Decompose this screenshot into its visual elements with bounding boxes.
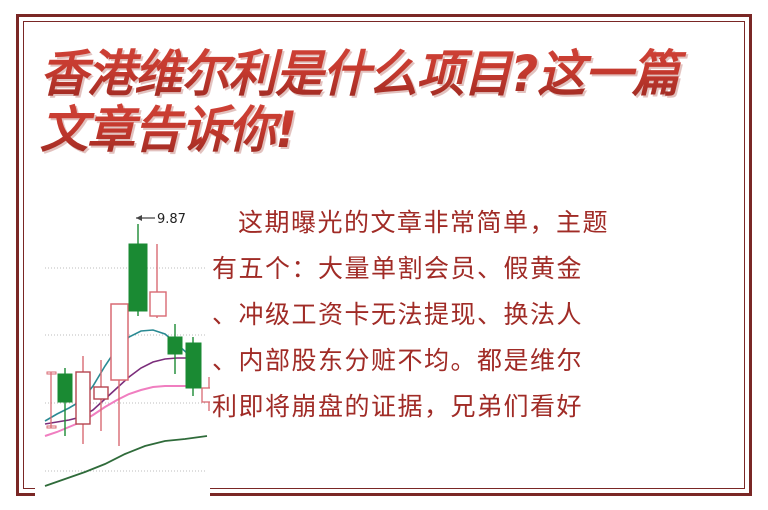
- candlestick-chart: 9.87: [35, 196, 210, 510]
- body-line-3: 、冲级工资卡无法提现、换法人: [212, 292, 654, 338]
- body-line-1: 这期曝光的文章非常简单，主题: [212, 200, 654, 246]
- page-title: 香港维尔利是什么项目?这一篇 文章告诉你!: [40, 46, 740, 158]
- article-body: 这期曝光的文章非常简单，主题 有五个：大量单割会员、假黄金 、冲级工资卡无法提现…: [212, 200, 654, 430]
- candle-7: [186, 337, 201, 396]
- body-line-4: 、内部股东分赃不均。都是维尔: [212, 338, 654, 384]
- title-line-2: 文章告诉你!: [40, 102, 712, 158]
- body-line-5: 利即将崩盘的证据，兄弟们看好: [212, 384, 654, 430]
- body-line-2: 有五个：大量单割会员、假黄金: [212, 246, 654, 292]
- poster-canvas: 香港维尔利是什么项目?这一篇 文章告诉你!: [0, 0, 768, 510]
- annotation-value: 9.87: [157, 212, 186, 227]
- title-line-1: 香港维尔利是什么项目?这一篇: [40, 46, 712, 102]
